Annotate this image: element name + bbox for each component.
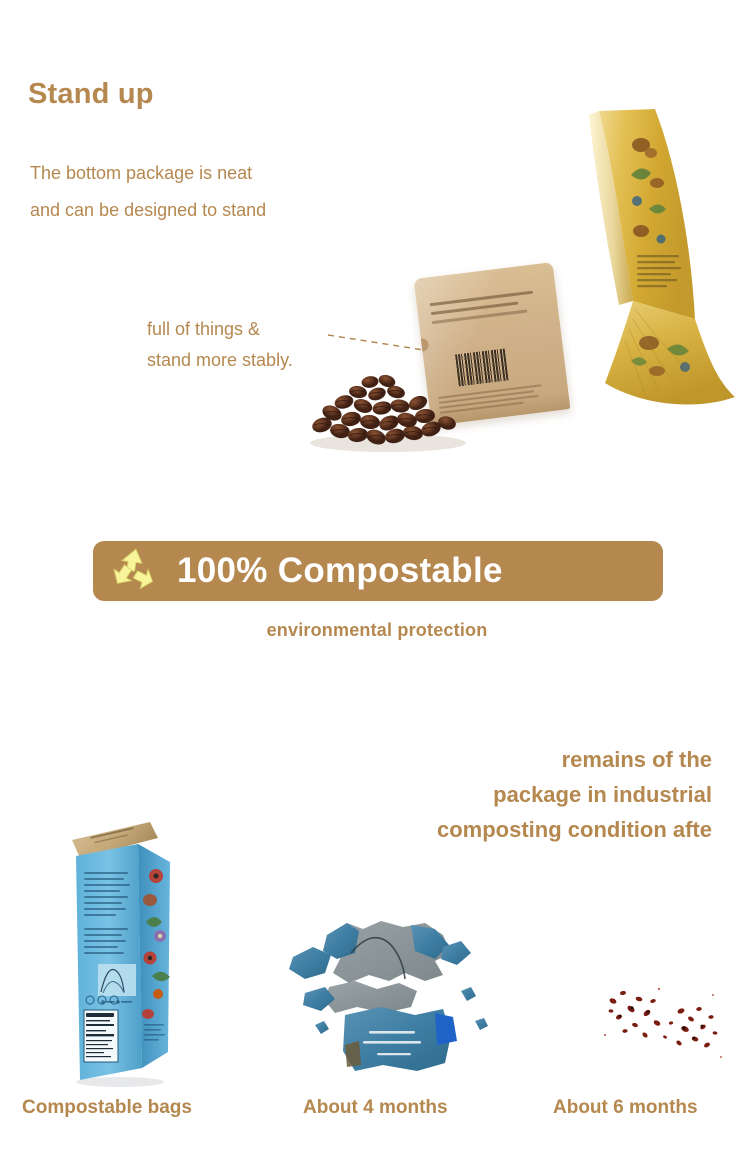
compostable-banner-title: 100% Compostable: [177, 551, 503, 591]
product-page: Stand up The bottom package is neat and …: [0, 0, 750, 1162]
remains-description: remains of the package in industrial com…: [292, 742, 712, 847]
blue-compostable-bag-image: [46, 818, 186, 1090]
bag-remnant-specks-image: [595, 965, 730, 1070]
standup-description: The bottom package is neat and can be de…: [30, 155, 266, 229]
caption-compostable-bags: Compostable bags: [22, 1097, 192, 1119]
compostable-banner: 100% Compostable: [93, 541, 663, 601]
remains-line-3: composting condition afte: [292, 812, 712, 847]
recycle-icon: [107, 543, 163, 599]
pouch-printed-text: [430, 290, 544, 330]
yellow-herb-printed-bag-image: [545, 105, 745, 435]
partially-decomposed-bag-image: [285, 895, 500, 1080]
standup-description-line-2: and can be designed to stand: [30, 192, 266, 229]
coffee-beans-pile-image: [300, 373, 475, 453]
standup-callout-line-2: stand more stably.: [147, 345, 293, 376]
standup-description-line-1: The bottom package is neat: [30, 155, 266, 192]
caption-about-6-months: About 6 months: [553, 1097, 698, 1119]
environmental-protection-subtitle: environmental protection: [0, 620, 750, 641]
page-title: Stand up: [28, 78, 154, 111]
standup-callout-line-1: full of things &: [147, 314, 293, 345]
caption-about-4-months: About 4 months: [303, 1097, 448, 1119]
standup-photo-group: [290, 105, 740, 465]
standup-callout: full of things & stand more stably.: [147, 314, 293, 376]
remains-line-1: remains of the: [292, 742, 712, 777]
remains-line-2: package in industrial: [292, 777, 712, 812]
pouch-hole-punch-icon: [415, 338, 429, 352]
